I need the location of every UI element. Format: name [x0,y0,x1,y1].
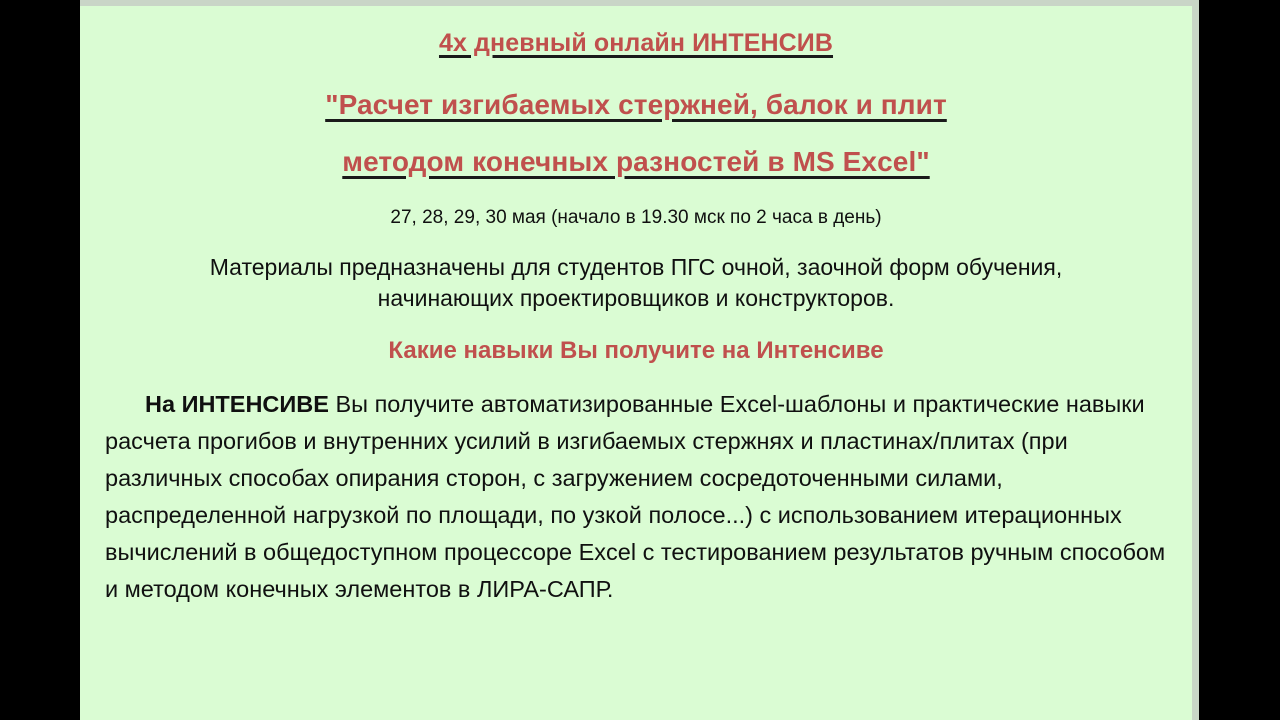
slide-right-edge-strip [1192,0,1199,720]
headline-block: 4х дневный онлайн ИНТЕНСИВ "Расчет изгиб… [80,28,1192,179]
audience-paragraph: Материалы предназначены для студентов ПГ… [80,252,1192,314]
headline-line-3: методом конечных разностей в MS Excel" [80,145,1192,179]
headline-line-1: 4х дневный онлайн ИНТЕНСИВ [80,28,1192,58]
letterbox-bar-left [0,0,80,720]
headline-line-2: "Расчет изгибаемых стержней, балок и пли… [80,88,1192,122]
presentation-slide: 4х дневный онлайн ИНТЕНСИВ "Расчет изгиб… [80,0,1199,720]
slide-content: 4х дневный онлайн ИНТЕНСИВ "Расчет изгиб… [80,6,1192,720]
body-rest-text: Вы получите автоматизированные Excel-шаб… [105,391,1165,602]
screenshot-canvas: 4х дневный онлайн ИНТЕНСИВ "Расчет изгиб… [0,0,1280,720]
body-lead-bold: На ИНТЕНСИВЕ [145,391,329,417]
skills-subheading: Какие навыки Вы получите на Интенсиве [80,336,1192,366]
body-paragraph: На ИНТЕНСИВЕ Вы получите автоматизирован… [80,386,1192,608]
schedule-date-line: 27, 28, 29, 30 мая (начало в 19.30 мск п… [80,206,1192,230]
letterbox-bar-right [1199,0,1280,720]
